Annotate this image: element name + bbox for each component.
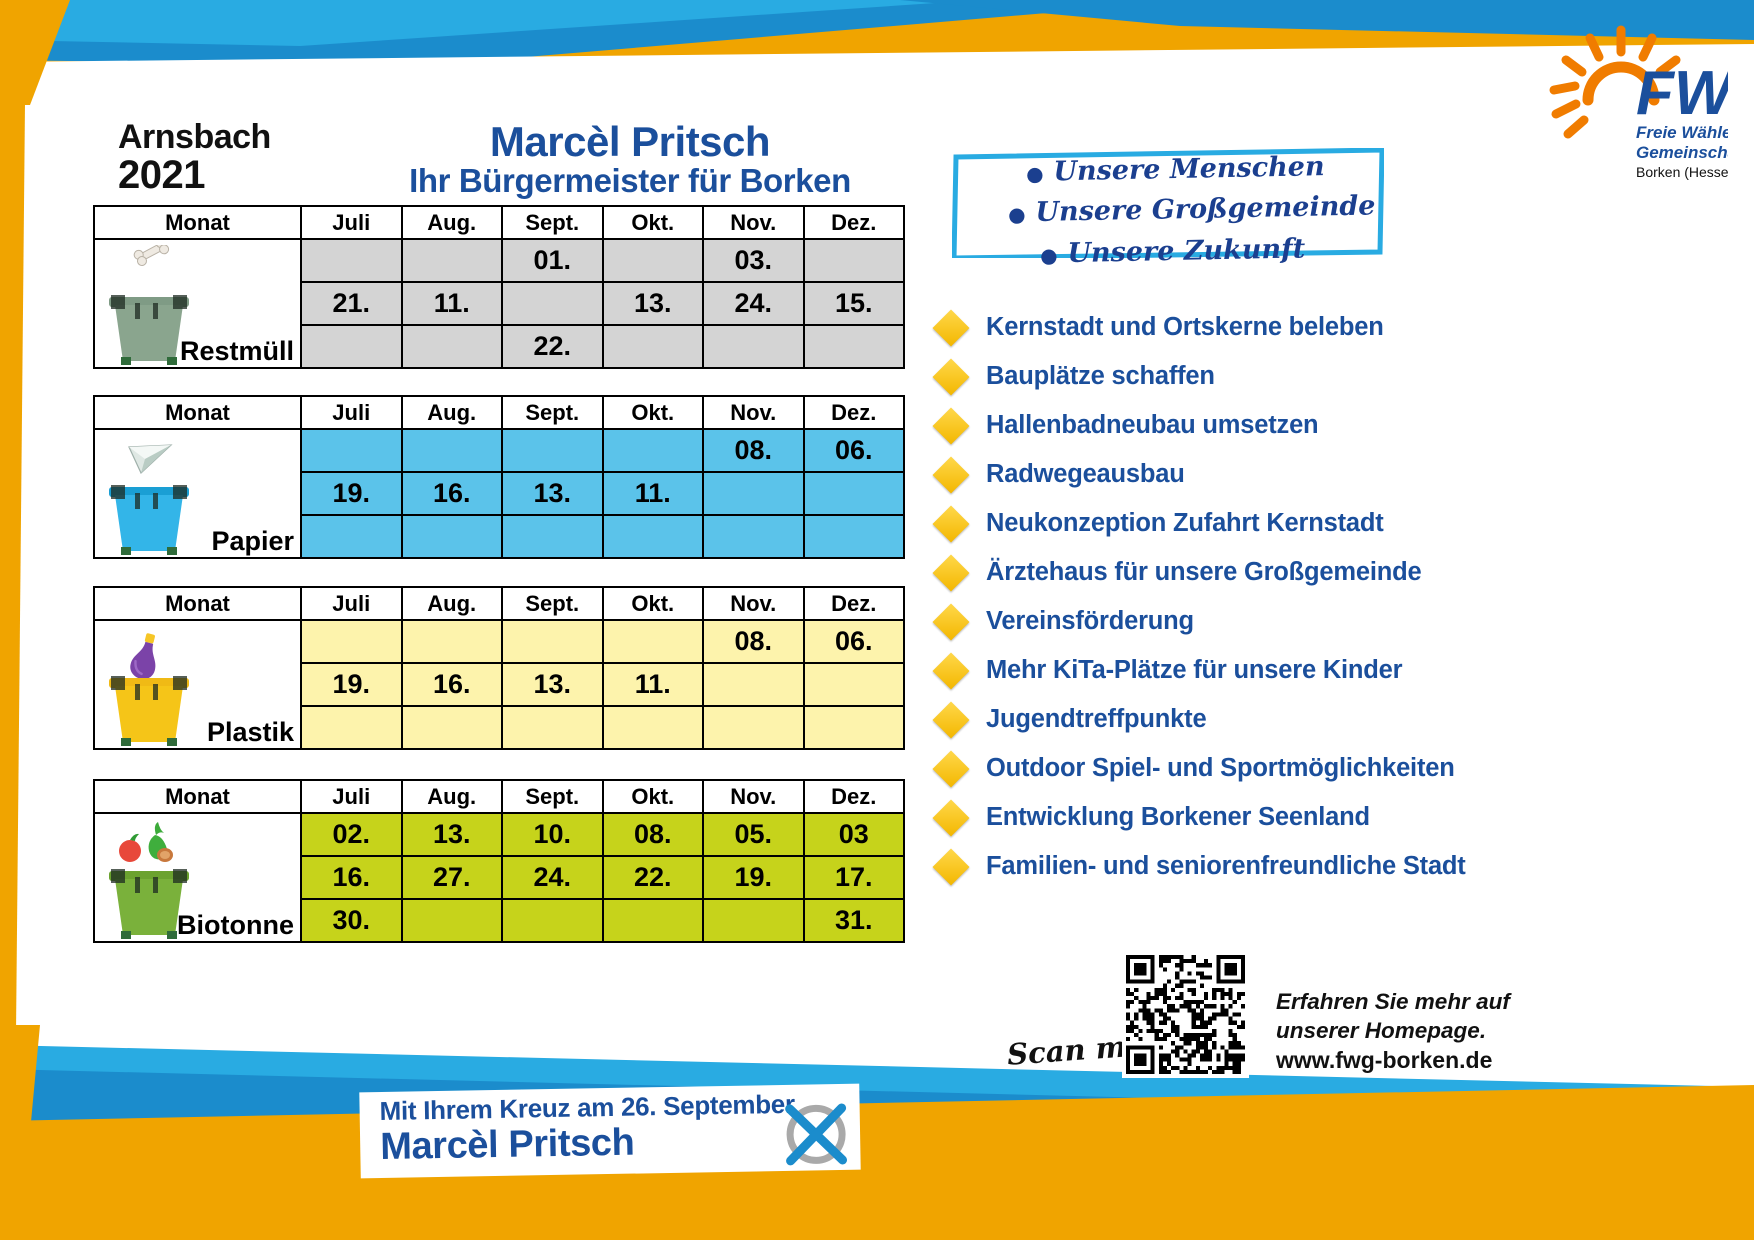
bin-label-cell: Plastik	[94, 620, 301, 749]
column-header: Aug.	[402, 206, 503, 239]
trash-bin-bottle-icon	[101, 626, 197, 746]
column-header: Sept.	[502, 396, 603, 429]
pickup-date-cell: 22.	[502, 325, 603, 368]
candidate-subtitle: Ihr Bürgermeister für Borken	[330, 162, 930, 200]
pickup-date-cell	[703, 706, 804, 749]
pickup-date-cell	[502, 515, 603, 558]
flyer-page: Arnsbach 2021 Marcèl Pritsch Ihr Bürgerm…	[0, 0, 1754, 1240]
pickup-date-cell	[402, 239, 503, 282]
column-header: Sept.	[502, 206, 603, 239]
top-banner-decoration	[0, 0, 1754, 105]
program-item: Familien- und seniorenfreundliche Stadt	[932, 842, 1722, 891]
column-header: Nov.	[703, 587, 804, 620]
pickup-date-cell: 15.	[804, 282, 905, 325]
program-list: Kernstadt und Ortskerne belebenBauplätze…	[932, 303, 1722, 891]
pickup-date-cell	[301, 620, 402, 663]
calendar-table-biotonne: MonatJuliAug.Sept.Okt.Nov.Dez.Biotonne02…	[93, 779, 905, 943]
bin-label-cell: Biotonne	[94, 813, 301, 942]
pickup-date-cell	[703, 515, 804, 558]
program-item: Outdoor Spiel- und Sportmöglichkeiten	[932, 744, 1722, 793]
pickup-date-cell	[502, 620, 603, 663]
ballot-cross-icon	[784, 1102, 849, 1167]
pickup-date-cell: 02.	[301, 813, 402, 856]
program-item-label: Familien- und seniorenfreundliche Stadt	[986, 852, 1466, 881]
candidate-block: Marcèl Pritsch Ihr Bürgermeister für Bor…	[330, 118, 930, 200]
trash-bin-paper-plane-icon	[101, 435, 197, 555]
pickup-date-cell: 11.	[603, 472, 704, 515]
diamond-bullet-icon	[933, 701, 970, 738]
pickup-date-cell	[603, 620, 704, 663]
diamond-bullet-icon	[933, 799, 970, 836]
column-header: Aug.	[402, 396, 503, 429]
bin-icon-wrap	[101, 245, 197, 365]
pickup-date-cell: 19.	[301, 472, 402, 515]
bin-label: Papier	[211, 526, 294, 556]
logo-line2: Gemeinschaft	[1636, 143, 1728, 162]
pickup-date-cell: 16.	[402, 472, 503, 515]
column-header: Nov.	[703, 206, 804, 239]
pickup-date-cell	[804, 515, 905, 558]
fw-logo: FW Freie Wähler Gemeinschaft Borken (Hes…	[1528, 22, 1728, 187]
pickup-date-cell: 01.	[502, 239, 603, 282]
pickup-date-cell: 06.	[804, 620, 905, 663]
pickup-date-cell: 13.	[603, 282, 704, 325]
program-item: Ärztehaus für unsere Großgemeinde	[932, 548, 1722, 597]
program-item-label: Jugendtreffpunkte	[986, 705, 1206, 734]
column-header: Dez.	[804, 587, 905, 620]
column-header: Juli	[301, 587, 402, 620]
bin-icon-wrap	[101, 435, 197, 555]
slogan-line-3: ●Unsere Zukunft	[1040, 233, 1306, 269]
program-item: Mehr KiTa-Plätze für unsere Kinder	[932, 646, 1722, 695]
program-item: Entwicklung Borkener Seenland	[932, 793, 1722, 842]
pickup-date-cell	[603, 706, 704, 749]
column-header: Okt.	[603, 587, 704, 620]
pickup-date-cell: 30.	[301, 899, 402, 942]
pickup-date-cell: 31.	[804, 899, 905, 942]
diamond-bullet-icon	[933, 456, 970, 493]
column-header: Nov.	[703, 780, 804, 813]
bullet-dot: ●	[1040, 243, 1058, 267]
pickup-date-cell	[703, 899, 804, 942]
pickup-date-cell	[402, 325, 503, 368]
calendar-table-papier: MonatJuliAug.Sept.Okt.Nov.Dez.Papier08.0…	[93, 395, 905, 559]
program-item: Jugendtreffpunkte	[932, 695, 1722, 744]
program-item-label: Outdoor Spiel- und Sportmöglichkeiten	[986, 754, 1455, 783]
column-header: Okt.	[603, 206, 704, 239]
pickup-date-cell	[402, 899, 503, 942]
diamond-bullet-icon	[933, 603, 970, 640]
table-row: Restmüll01.03.	[94, 239, 904, 282]
vote-call-to-action: Mit Ihrem Kreuz am 26. September Marcèl …	[359, 1084, 860, 1179]
column-header: Monat	[94, 780, 301, 813]
bin-icon-wrap	[101, 819, 197, 939]
pickup-date-cell: 24.	[502, 856, 603, 899]
program-item: Neukonzeption Zufahrt Kernstadt	[932, 499, 1722, 548]
program-item-label: Vereinsförderung	[986, 607, 1194, 636]
column-header: Dez.	[804, 396, 905, 429]
pickup-date-cell: 16.	[301, 856, 402, 899]
pickup-date-cell	[402, 706, 503, 749]
program-item-label: Radwegeausbau	[986, 460, 1185, 489]
pickup-date-cell	[502, 282, 603, 325]
pickup-date-cell: 19.	[703, 856, 804, 899]
program-item-label: Kernstadt und Ortskerne beleben	[986, 313, 1384, 342]
pickup-date-cell	[502, 429, 603, 472]
program-item: Hallenbadneubau umsetzen	[932, 401, 1722, 450]
pickup-date-cell	[502, 899, 603, 942]
pickup-date-cell	[804, 706, 905, 749]
pickup-date-cell	[804, 325, 905, 368]
column-header: Monat	[94, 396, 301, 429]
pickup-date-cell: 21.	[301, 282, 402, 325]
pickup-date-cell: 19.	[301, 663, 402, 706]
table-header-row: MonatJuliAug.Sept.Okt.Nov.Dez.	[94, 587, 904, 620]
pickup-date-cell	[402, 515, 503, 558]
bin-label: Plastik	[207, 717, 294, 747]
diamond-bullet-icon	[933, 505, 970, 542]
pickup-date-cell: 16.	[402, 663, 503, 706]
homepage-line-1: Erfahren Sie mehr auf	[1276, 988, 1606, 1017]
pickup-date-cell: 08.	[703, 429, 804, 472]
program-item-label: Bauplätze schaffen	[986, 362, 1215, 391]
diamond-bullet-icon	[933, 848, 970, 885]
pickup-date-cell	[301, 429, 402, 472]
pickup-date-cell	[603, 239, 704, 282]
qr-code-icon[interactable]	[1122, 951, 1249, 1078]
program-item-label: Ärztehaus für unsere Großgemeinde	[986, 558, 1422, 587]
table-header-row: MonatJuliAug.Sept.Okt.Nov.Dez.	[94, 780, 904, 813]
pickup-date-cell: 13.	[502, 663, 603, 706]
program-item-label: Mehr KiTa-Plätze für unsere Kinder	[986, 656, 1402, 685]
program-item-label: Entwicklung Borkener Seenland	[986, 803, 1370, 832]
column-header: Aug.	[402, 780, 503, 813]
bin-label-cell: Papier	[94, 429, 301, 558]
pickup-date-cell: 03.	[703, 239, 804, 282]
column-header: Juli	[301, 780, 402, 813]
bin-icon-wrap	[101, 626, 197, 746]
column-header: Okt.	[603, 396, 704, 429]
slogan-line-1: ●Unsere Menschen	[1026, 151, 1325, 188]
bullet-dot: ●	[1008, 202, 1026, 226]
column-header: Sept.	[502, 587, 603, 620]
table-row: Papier08.06.	[94, 429, 904, 472]
column-header: Juli	[301, 206, 402, 239]
program-item: Kernstadt und Ortskerne beleben	[932, 303, 1722, 352]
header: Arnsbach 2021 Marcèl Pritsch Ihr Bürgerm…	[0, 118, 1754, 208]
vote-date-text: Mit Ihrem Kreuz am 26. September	[379, 1089, 795, 1127]
pickup-date-cell	[301, 706, 402, 749]
vote-candidate-name: Marcèl Pritsch	[380, 1122, 635, 1169]
pickup-date-cell	[603, 325, 704, 368]
pickup-date-cell: 11.	[603, 663, 704, 706]
pickup-date-cell: 08.	[603, 813, 704, 856]
pickup-date-cell: 13.	[502, 472, 603, 515]
bin-label: Restmüll	[180, 336, 294, 366]
bullet-dot: ●	[1026, 161, 1044, 185]
pickup-date-cell	[703, 663, 804, 706]
pickup-date-cell	[703, 325, 804, 368]
logo-initials: FW	[1636, 59, 1728, 128]
pickup-date-cell	[804, 472, 905, 515]
homepage-line-2: unserer Homepage.	[1276, 1017, 1606, 1046]
bin-label-cell: Restmüll	[94, 239, 301, 368]
pickup-date-cell	[502, 706, 603, 749]
diamond-bullet-icon	[933, 554, 970, 591]
pickup-date-cell: 17.	[804, 856, 905, 899]
pickup-date-cell	[402, 429, 503, 472]
pickup-date-cell: 13.	[402, 813, 503, 856]
candidate-name: Marcèl Pritsch	[330, 118, 930, 166]
pickup-date-cell: 11.	[402, 282, 503, 325]
logo-line1: Freie Wähler	[1636, 123, 1728, 142]
column-header: Dez.	[804, 780, 905, 813]
pickup-date-cell: 10.	[502, 813, 603, 856]
pickup-date-cell	[603, 515, 704, 558]
pickup-date-cell: 03	[804, 813, 905, 856]
pickup-date-cell	[301, 325, 402, 368]
column-header: Nov.	[703, 396, 804, 429]
diamond-bullet-icon	[933, 309, 970, 346]
trash-bin-vegetables-icon	[101, 819, 197, 939]
pickup-date-cell	[603, 429, 704, 472]
pickup-date-cell	[703, 472, 804, 515]
column-header: Dez.	[804, 206, 905, 239]
column-header: Okt.	[603, 780, 704, 813]
pickup-date-cell	[804, 239, 905, 282]
table-header-row: MonatJuliAug.Sept.Okt.Nov.Dez.	[94, 396, 904, 429]
pickup-date-cell: 27.	[402, 856, 503, 899]
pickup-date-cell: 06.	[804, 429, 905, 472]
column-header: Monat	[94, 206, 301, 239]
pickup-date-cell: 08.	[703, 620, 804, 663]
logo-line3: Borken (Hessen)	[1636, 164, 1728, 180]
column-header: Monat	[94, 587, 301, 620]
trash-bin-bone-icon	[101, 245, 197, 365]
program-item-label: Hallenbadneubau umsetzen	[986, 411, 1318, 440]
diamond-bullet-icon	[933, 407, 970, 444]
program-item: Bauplätze schaffen	[932, 352, 1722, 401]
pickup-date-cell	[603, 899, 704, 942]
column-header: Juli	[301, 396, 402, 429]
diamond-bullet-icon	[933, 750, 970, 787]
program-item: Radwegeausbau	[932, 450, 1722, 499]
pickup-date-cell	[804, 663, 905, 706]
table-row: Biotonne02.13.10.08.05.03	[94, 813, 904, 856]
diamond-bullet-icon	[933, 652, 970, 689]
column-header: Sept.	[502, 780, 603, 813]
table-row: Plastik08.06.	[94, 620, 904, 663]
qr-code-matrix	[1126, 955, 1245, 1074]
pickup-date-cell: 22.	[603, 856, 704, 899]
diamond-bullet-icon	[933, 358, 970, 395]
slogan-box: ●Unsere Menschen ●Unsere Großgemeinde ●U…	[952, 148, 1384, 258]
program-item-label: Neukonzeption Zufahrt Kernstadt	[986, 509, 1384, 538]
pickup-date-cell	[402, 620, 503, 663]
column-header: Aug.	[402, 587, 503, 620]
program-item: Vereinsförderung	[932, 597, 1722, 646]
pickup-date-cell	[301, 515, 402, 558]
table-header-row: MonatJuliAug.Sept.Okt.Nov.Dez.	[94, 206, 904, 239]
calendar-table-plastik: MonatJuliAug.Sept.Okt.Nov.Dez.Plastik08.…	[93, 586, 905, 750]
pickup-date-cell	[301, 239, 402, 282]
calendar-table-restmuell: MonatJuliAug.Sept.Okt.Nov.Dez.Restmüll01…	[93, 205, 905, 369]
pickup-date-cell: 24.	[703, 282, 804, 325]
homepage-info: Erfahren Sie mehr auf unserer Homepage. …	[1276, 988, 1606, 1075]
homepage-url[interactable]: www.fwg-borken.de	[1276, 1046, 1606, 1075]
pickup-date-cell: 05.	[703, 813, 804, 856]
